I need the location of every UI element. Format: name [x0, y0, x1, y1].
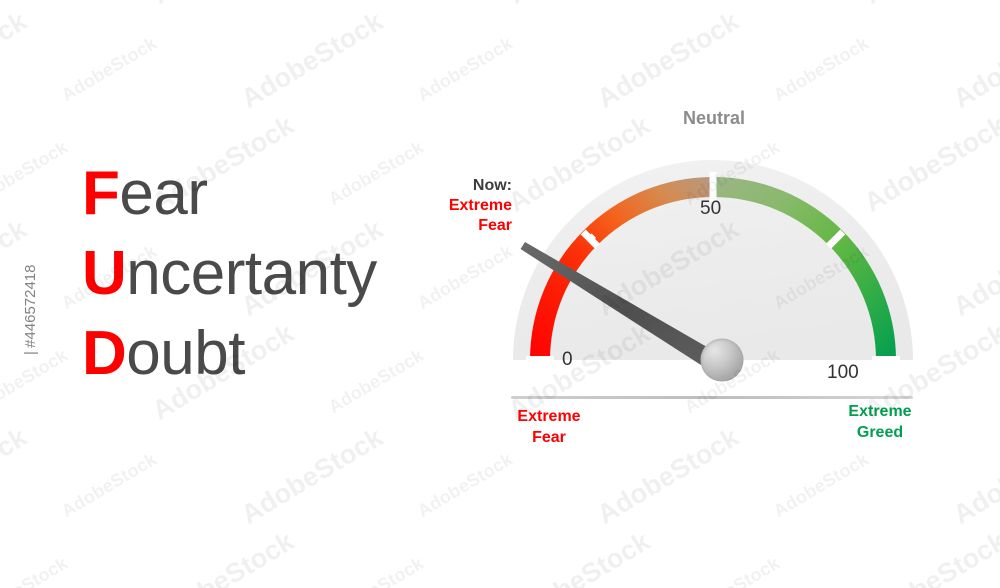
watermark-text: AdobeStock: [58, 449, 161, 522]
fud-capital-f: F: [82, 159, 119, 228]
watermark-text: AdobeStock: [0, 345, 72, 418]
watermark-text: AdobeStock: [236, 6, 389, 115]
fud-acronym-block: Fear Uncertanty Doubt: [82, 154, 377, 394]
gauge-label-extreme-fear-line2: Fear: [491, 427, 607, 448]
gauge-label-extreme-greed-line1: Extreme: [820, 401, 940, 422]
gauge-label-neutral: Neutral: [683, 108, 745, 129]
watermark-text: AdobeStock: [859, 526, 1000, 588]
gauge-tick-label-100: 100: [827, 362, 859, 384]
gauge-label-extreme-fear: Extreme Fear: [491, 406, 607, 448]
fud-rest-doubt: oubt: [126, 319, 245, 388]
watermark-text: AdobeStock: [503, 526, 656, 588]
fud-line-fear: Fear: [82, 154, 377, 234]
gauge-baseline-rule: [511, 396, 913, 399]
poster-canvas: Fear Uncertanty Doubt: [0, 0, 1000, 588]
watermark-text: AdobeStock: [236, 422, 389, 531]
fud-capital-d: D: [82, 319, 126, 388]
watermark-asset-id: | #446572418: [22, 265, 39, 356]
watermark-text: AdobeStock: [681, 553, 784, 588]
watermark-text: AdobeStock: [0, 6, 33, 115]
gauge-label-now-prefix: Now:: [400, 176, 512, 196]
fud-rest-uncertanty: ncertanty: [126, 239, 377, 308]
gauge-tick-label-0: 0: [562, 349, 573, 371]
fud-capital-u: U: [82, 239, 126, 308]
gauge-label-extreme-fear-line1: Extreme: [491, 406, 607, 427]
gauge-label-extreme-greed: Extreme Greed: [820, 401, 940, 443]
fud-line-uncertanty: Uncertanty: [82, 234, 377, 314]
watermark-text: AdobeStock: [503, 0, 656, 11]
fud-line-doubt: Doubt: [82, 314, 377, 394]
watermark-text: AdobeStock: [0, 553, 72, 588]
watermark-text: AdobeStock: [58, 33, 161, 106]
fud-rest-fear: ear: [119, 159, 207, 228]
gauge-tick-label-50: 50: [700, 198, 721, 220]
gauge-hub-ring: [701, 339, 744, 382]
watermark-text: AdobeStock: [325, 0, 428, 2]
gauge-label-now-value-line2: Fear: [400, 216, 512, 236]
watermark-text: AdobeStock: [681, 0, 784, 2]
gauge-label-now: Now: Extreme Fear: [400, 176, 512, 236]
watermark-text: AdobeStock: [147, 526, 300, 588]
gauge-label-now-value-line1: Extreme: [400, 196, 512, 216]
watermark-bar: |: [22, 352, 39, 355]
gauge-label-extreme-greed-line2: Greed: [820, 422, 940, 443]
watermark-text: AdobeStock: [0, 137, 72, 210]
watermark-text: AdobeStock: [325, 553, 428, 588]
watermark-text: AdobeStock: [859, 0, 1000, 11]
watermark-text: AdobeStock: [0, 422, 33, 531]
watermark-text: AdobeStock: [147, 0, 300, 11]
watermark-text: AdobeStock: [0, 0, 72, 2]
